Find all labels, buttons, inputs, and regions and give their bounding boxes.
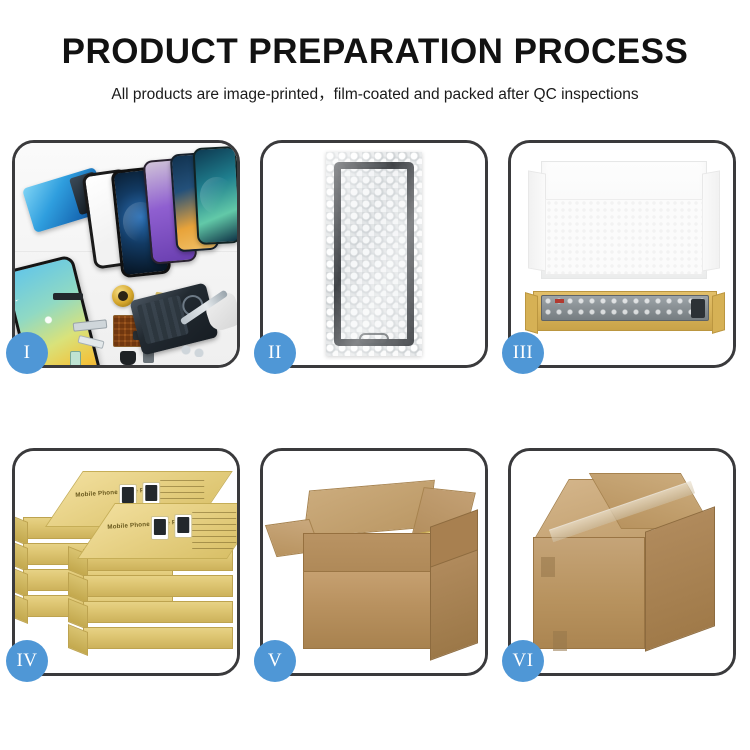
carton-side-panel: [645, 506, 715, 651]
carton-body: [303, 571, 435, 649]
phone-screen-teal: [192, 146, 237, 245]
process-step-card-5: V: [260, 448, 488, 676]
header: PRODUCT PREPARATION PROCESS All products…: [0, 0, 750, 104]
product-preparation-infographic: PRODUCT PREPARATION PROCESS All products…: [0, 0, 750, 750]
stacked-box: [83, 575, 233, 597]
process-step-grid: I II III: [12, 140, 738, 676]
process-step-card-4: Mobile Phone Spare Parts Mobile Phone Sp…: [12, 448, 240, 676]
box-stack: Mobile Phone Spare Parts Mobile Phone Sp…: [21, 473, 237, 663]
box-phone-graphic: [174, 514, 192, 538]
stacked-box: [83, 627, 233, 649]
step-badge-4: IV: [6, 640, 48, 682]
step-1-image: [15, 143, 237, 365]
process-step-card-1: I: [12, 140, 240, 368]
step-badge-1: I: [6, 332, 48, 374]
red-label-mark: [555, 299, 564, 303]
process-step-card-3: III: [508, 140, 736, 368]
green-connector-part: [70, 351, 81, 365]
process-step-card-6: VI: [508, 448, 736, 676]
step-3-image: [511, 143, 733, 365]
carton-tab-upper: [541, 557, 555, 577]
packed-screen-item: [541, 295, 709, 321]
bubble-wrap-sheet: [326, 152, 422, 356]
black-cap-part: [120, 351, 136, 365]
stacked-box: [83, 601, 233, 623]
screws: [181, 345, 209, 357]
step-4-image: Mobile Phone Spare Parts Mobile Phone Sp…: [15, 451, 237, 673]
process-step-card-2: II: [260, 140, 488, 368]
step-badge-5: V: [254, 640, 296, 682]
step-2-image: [263, 143, 485, 365]
carton-front-panel: [533, 537, 645, 649]
step-badge-3: III: [502, 332, 544, 374]
carton-tab-lower: [553, 631, 567, 651]
box-phone-graphic: [151, 516, 169, 540]
dark-bar-part: [53, 293, 83, 300]
page-title: PRODUCT PREPARATION PROCESS: [0, 34, 750, 71]
step-5-image: [263, 451, 485, 673]
step-badge-2: II: [254, 332, 296, 374]
wrap-gloss: [326, 152, 422, 356]
page-subtitle: All products are image-printed，film-coat…: [0, 82, 750, 104]
step-6-image: [511, 451, 733, 673]
foam-liner: [545, 199, 703, 275]
box-checklist-graphic: [192, 512, 236, 552]
step-badge-6: VI: [502, 640, 544, 682]
